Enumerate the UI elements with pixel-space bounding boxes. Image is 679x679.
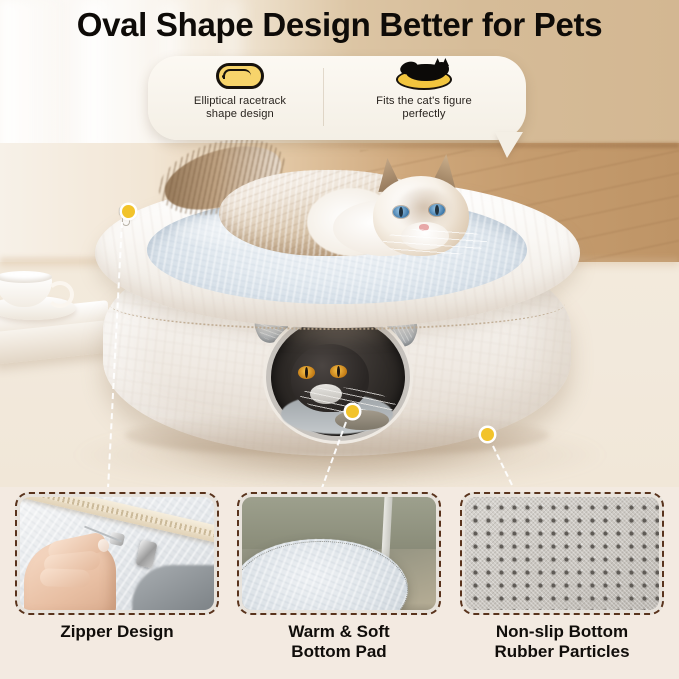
feature-item-elliptical: Elliptical racetrack shape design xyxy=(152,60,328,121)
panel-non-slip-bottom[interactable]: Non-slip Bottom Rubber Particles xyxy=(460,492,664,662)
panel-caption: Warm & Soft Bottom Pad xyxy=(237,622,441,662)
ragdoll-cat xyxy=(157,148,487,278)
bottom-pad-photo xyxy=(242,497,436,610)
panel-image-frame xyxy=(237,492,441,615)
page-title: Oval Shape Design Better for Pets xyxy=(0,6,679,44)
cat-eye-left xyxy=(393,206,409,218)
panel-caption-line2: Bottom Pad xyxy=(237,642,441,662)
feature-label-line2: perfectly xyxy=(336,108,512,121)
panel-zipper-design[interactable]: Zipper Design xyxy=(15,492,219,642)
rubber-particles-photo xyxy=(465,497,659,610)
panel-caption-line1: Non-slip Bottom xyxy=(460,622,664,642)
feature-label-line2: shape design xyxy=(152,108,328,121)
cat-bed xyxy=(95,178,580,473)
cat-on-oval-icon xyxy=(336,60,512,92)
panel-caption: Zipper Design xyxy=(15,622,219,642)
dark-cat-eye-right xyxy=(330,365,347,378)
panel-caption-line1: Warm & Soft xyxy=(237,622,441,642)
product-infographic: Oval Shape Design Better for Pets Ellipt… xyxy=(0,0,679,679)
panel-image-frame xyxy=(15,492,219,615)
panel-image-frame xyxy=(460,492,664,615)
cat-eye-right xyxy=(429,204,445,216)
panel-bottom-pad[interactable]: Warm & Soft Bottom Pad xyxy=(237,492,441,662)
bottom-pad-marker-dot[interactable] xyxy=(346,405,359,418)
dark-cat-eye-left xyxy=(298,366,315,379)
oval-pill-icon xyxy=(152,60,328,92)
panel-caption-line1: Zipper Design xyxy=(15,622,219,642)
hero-scene: Oval Shape Design Better for Pets Ellipt… xyxy=(0,0,679,487)
cat-whiskers xyxy=(383,228,487,256)
feature-label-line1: Fits the cat's figure xyxy=(336,95,512,108)
feature-panel-row: Zipper Design Warm & Soft Bottom Pad xyxy=(0,487,679,679)
feature-item-fits-figure: Fits the cat's figure perfectly xyxy=(336,60,512,121)
bed-zipper-seam xyxy=(109,274,565,330)
teacup-handle xyxy=(46,281,74,308)
zipper-photo xyxy=(20,497,214,610)
zipper-marker-dot[interactable] xyxy=(122,205,135,218)
callout-bubble-tail xyxy=(495,132,523,158)
panel-caption: Non-slip Bottom Rubber Particles xyxy=(460,622,664,662)
panel-caption-line2: Rubber Particles xyxy=(460,642,664,662)
feature-label-line1: Elliptical racetrack xyxy=(152,95,328,108)
non-slip-marker-dot[interactable] xyxy=(481,428,494,441)
